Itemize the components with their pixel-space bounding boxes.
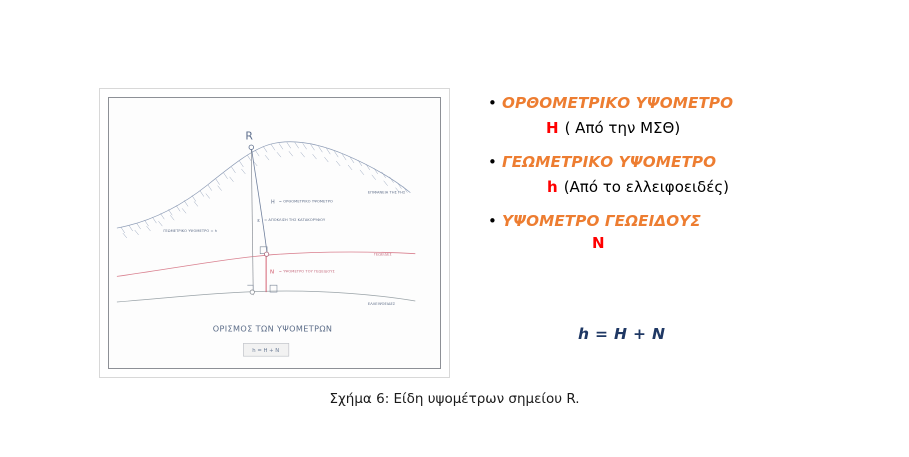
ellipsoid-curve [117, 291, 415, 302]
terrain-profile [117, 142, 410, 238]
ellipsoid-label: ΕΛΛΕΙΨΟΕΙΔΕΣ [368, 302, 396, 306]
bullet-marker-icon: • [480, 92, 502, 114]
point-R-label: R [245, 129, 253, 142]
figure-caption: Σχήμα 6: Είδη υψομέτρων σημείου R. [0, 391, 909, 407]
earth-surface-label: ΕΠΙΦΑΝΕΙΑ ΤΗΣ ΓΗΣ [368, 191, 406, 195]
formula-box-text: h = H + N [252, 348, 279, 354]
diagram-title: ΟΡΙΣΜΟΣ ΤΩΝ ΥΨΟΜΕΤΡΩΝ [213, 324, 333, 334]
point-R-marker [249, 145, 254, 150]
height-types-list: • ΟΡΘΟΜΕΤΡΙΚΟ ΥΨΟΜΕΤΡΟ H( Από την ΜΣΘ) •… [480, 92, 900, 265]
geoid-height-label: = ΥΨΟΜΕΤΡΟ ΤΟΥ ΓΕΩΕΙΔΟΥΣ [279, 269, 336, 273]
point-geoid-marker [264, 252, 268, 256]
list-item: • ΟΡΘΟΜΕΤΡΙΚΟ ΥΨΟΜΕΤΡΟ H( Από την ΜΣΘ) [480, 92, 900, 140]
orthometric-detail: ( Από την ΜΣΘ) [559, 119, 681, 137]
bullet-marker-icon: • [480, 210, 502, 232]
point-ellipsoid-marker [250, 290, 254, 294]
geoid-symbol-N: N [592, 234, 605, 252]
geoid-label: ΓΕΩΕΙΔΕΣ [374, 253, 393, 257]
list-item: • ΥΨΟΜΕΤΡΟ ΓΕΩΕΙΔΟΥΣ N [480, 210, 900, 254]
geoid-height-heading: ΥΨΟΜΕΤΡΟ ΓΕΩΕΙΔΟΥΣ [502, 210, 701, 232]
bullet-marker-icon: • [480, 151, 502, 173]
orthometric-symbol-H: H [546, 119, 559, 137]
deviation-label: = ΑΠΟΚΛΙΣΗ ΤΗΣ ΚΑΤΑΚΟΡΥΦΟΥ [264, 218, 326, 222]
geometric-height-heading: ΓΕΩΜΕΤΡΙΚΟ ΥΨΟΜΕΤΡΟ [502, 151, 716, 173]
figure-canvas: R H = ΟΡΘΟΜΕΤΡΙΚΟ ΥΨΟΜΕΤΡΟ ε = ΑΠΟΚΛΙΣΗ … [108, 97, 441, 369]
orthometric-symbol: H [271, 199, 275, 205]
height-relation-formula: h = H + N [578, 325, 665, 343]
ellipsoid-normal-line [251, 147, 253, 295]
orthometric-height-heading: ΟΡΘΟΜΕΤΡΙΚΟ ΥΨΟΜΕΤΡΟ [502, 92, 733, 114]
orthometric-label: = ΟΡΘΟΜΕΤΡΙΚΟ ΥΨΟΜΕΤΡΟ [279, 199, 333, 203]
list-item: • ΓΕΩΜΕΤΡΙΚΟ ΥΨΟΜΕΤΡΟ h(Από το ελλειφοει… [480, 151, 900, 199]
plumb-line [251, 147, 267, 253]
geometric-detail: (Από το ελλειφοειδές) [558, 178, 729, 196]
height-definitions-diagram: R H = ΟΡΘΟΜΕΤΡΙΚΟ ΥΨΟΜΕΤΡΟ ε = ΑΠΟΚΛΙΣΗ … [109, 98, 440, 368]
geometric-symbol-h: h [546, 175, 558, 199]
geometric-height-label: ΓΕΩΜΕΤΡΙΚΟ ΥΨΟΜΕΤΡΟ = h [163, 229, 217, 233]
geoid-height-symbol: N [270, 269, 274, 275]
deviation-symbol: ε [257, 218, 260, 224]
figure-frame: R H = ΟΡΘΟΜΕΤΡΙΚΟ ΥΨΟΜΕΤΡΟ ε = ΑΠΟΚΛΙΣΗ … [99, 88, 450, 378]
